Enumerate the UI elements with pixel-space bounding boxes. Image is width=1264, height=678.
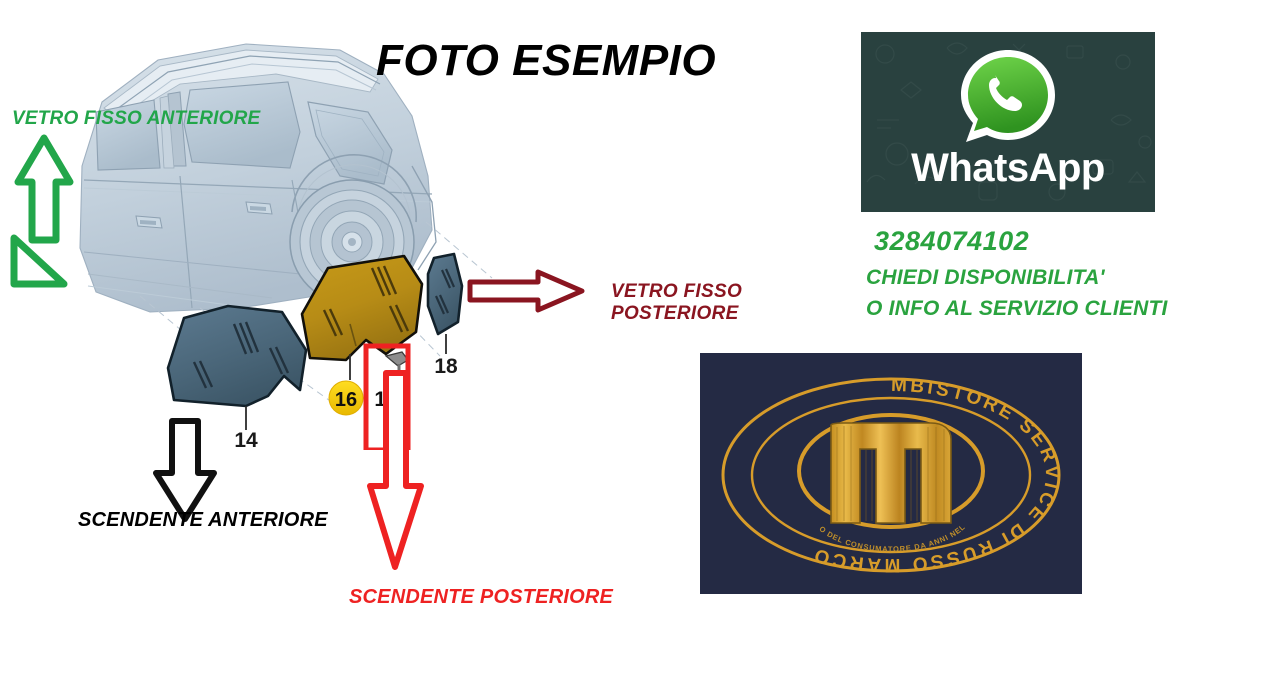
green-up-arrow-icon bbox=[8, 130, 78, 290]
red-down-arrow-icon bbox=[364, 368, 426, 573]
label-scendente-posteriore: SCENDENTE POSTERIORE bbox=[349, 586, 613, 609]
shop-logo-image: MRICAMBISTORE SERVICE DI RUSSO MARCO AL … bbox=[700, 353, 1082, 594]
part-18-shape bbox=[428, 254, 462, 334]
label-vetro-fisso-posteriore: VETRO FISSO POSTERIORE bbox=[611, 281, 742, 325]
contact-service-text: O INFO AL SERVIZIO CLIENTI bbox=[866, 297, 1168, 321]
label-scendente-anteriore: SCENDENTE ANTERIORE bbox=[78, 509, 328, 532]
part-14-number: 14 bbox=[234, 429, 258, 450]
part-18-number: 18 bbox=[434, 355, 458, 378]
label-vetro-fisso-anteriore: VETRO FISSO ANTERIORE bbox=[12, 108, 260, 130]
shop-logo-monogram bbox=[831, 423, 951, 523]
maroon-right-arrow-icon bbox=[466, 268, 586, 314]
shop-logo-emblem: MRICAMBISTORE SERVICE DI RUSSO MARCO AL … bbox=[700, 353, 1082, 594]
page-title: FOTO ESEMPIO bbox=[376, 36, 716, 86]
contact-phone-number[interactable]: 3284074102 bbox=[874, 226, 1029, 257]
whatsapp-wordmark: WhatsApp bbox=[861, 146, 1155, 191]
part-16-badge: 16 bbox=[329, 381, 363, 415]
contact-availability-text: CHIEDI DISPONIBILITA' bbox=[866, 266, 1105, 290]
whatsapp-banner[interactable]: WhatsApp bbox=[861, 32, 1155, 212]
part-14-shape bbox=[168, 306, 306, 406]
whatsapp-phone-bubble-icon bbox=[956, 48, 1060, 152]
screenshot-root: 14 16 17 18 bbox=[0, 0, 1264, 678]
part-16-number: 16 bbox=[335, 389, 357, 411]
